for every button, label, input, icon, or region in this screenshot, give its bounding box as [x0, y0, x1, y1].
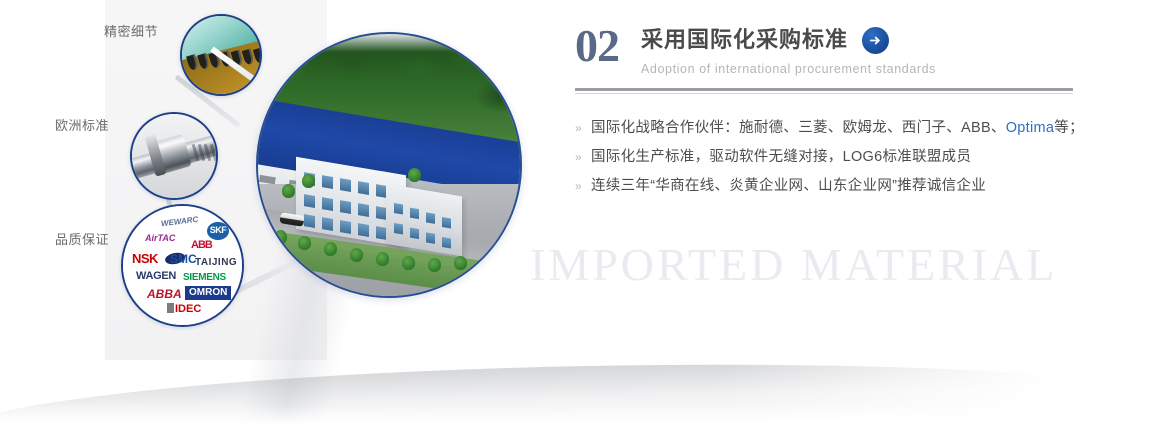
logo-taijing: TAIJING — [195, 258, 237, 268]
logo-wagen: WAGEN — [136, 271, 176, 282]
section-title-en: Adoption of international procurement st… — [641, 62, 936, 76]
list-item: » 国际化战略合作伙伴：施耐德、三菱、欧姆龙、西门子、ABB、Optima等； — [575, 118, 1095, 138]
section-number: 02 — [575, 24, 619, 68]
logo-skf: SKF — [207, 222, 229, 240]
logo-airtac: AirTAC — [145, 234, 175, 243]
section-header: 02 采用国际化采购标准 Adoption of international p… — [575, 24, 936, 76]
chevron-double-right-icon: » — [575, 121, 591, 135]
chevron-double-right-icon: » — [575, 150, 591, 164]
chevron-double-right-icon: » — [575, 179, 591, 193]
arrow-right-circle-icon[interactable] — [862, 27, 889, 54]
bubble-brand-logos: WEWARC SKF AirTAC ABB NSK SMC TAIJING WA… — [121, 204, 244, 327]
bullet-text-part: 等； — [1054, 120, 1084, 136]
feature-bullet-list: » 国际化战略合作伙伴：施耐德、三菱、欧姆龙、西门子、ABB、Optima等； … — [575, 118, 1095, 205]
logo-idec-text: IDEC — [175, 303, 201, 315]
bubble-photo-gear-detail — [180, 14, 262, 96]
list-item: » 国际化生产标准，驱动软件无缝对接，LOG6标准联盟成员 — [575, 147, 1095, 167]
logo-abba: ABBA — [147, 288, 182, 300]
logo-nsk: NSK — [132, 252, 158, 265]
list-item-text: 国际化战略合作伙伴：施耐德、三菱、欧姆龙、西门子、ABB、Optima等； — [591, 118, 1084, 138]
logo-idec: IDEC — [167, 303, 201, 315]
label-precision-detail: 精密细节 — [104, 21, 158, 40]
bullet-text-part: 国际化战略合作伙伴：施耐德、三菱、欧姆龙、西门子、ABB、 — [591, 120, 1006, 136]
section-title-block: 采用国际化采购标准 Adoption of international proc… — [641, 24, 936, 76]
watermark-text: IMPORTED MATERIAL — [530, 238, 1057, 291]
logo-siemens: SIEMENS — [183, 273, 226, 283]
promo-banner: 精密细节 欧洲标准 品质保证 WEWARC SKF AirTAC A — [0, 0, 1150, 430]
label-european-standard: 欧洲标准 — [55, 115, 109, 134]
list-item-text: 国际化生产标准，驱动软件无缝对接，LOG6标准联盟成员 — [591, 147, 971, 167]
factory-photo-office-wing — [386, 184, 462, 257]
section-title-cn: 采用国际化采购标准 — [641, 26, 848, 54]
list-item-text: 连续三年“华商在线、炎黄企业网、山东企业网”推荐诚信企业 — [591, 176, 986, 196]
logo-smc: SMC — [170, 253, 197, 265]
list-item: » 连续三年“华商在线、炎黄企业网、山东企业网”推荐诚信企业 — [575, 176, 1095, 196]
bullet-highlight-optima: Optima — [1006, 120, 1055, 136]
content-column: 02 采用国际化采购标准 Adoption of international p… — [575, 0, 1095, 430]
logo-omron: OMRON — [185, 286, 231, 300]
factory-photo-circle — [256, 32, 522, 298]
logo-abb: ABB — [191, 240, 212, 251]
header-divider — [575, 88, 1073, 94]
factory-photo-sky — [258, 34, 520, 52]
label-quality-assurance: 品质保证 — [55, 229, 109, 248]
bubble-photo-ball-screw — [130, 112, 218, 200]
